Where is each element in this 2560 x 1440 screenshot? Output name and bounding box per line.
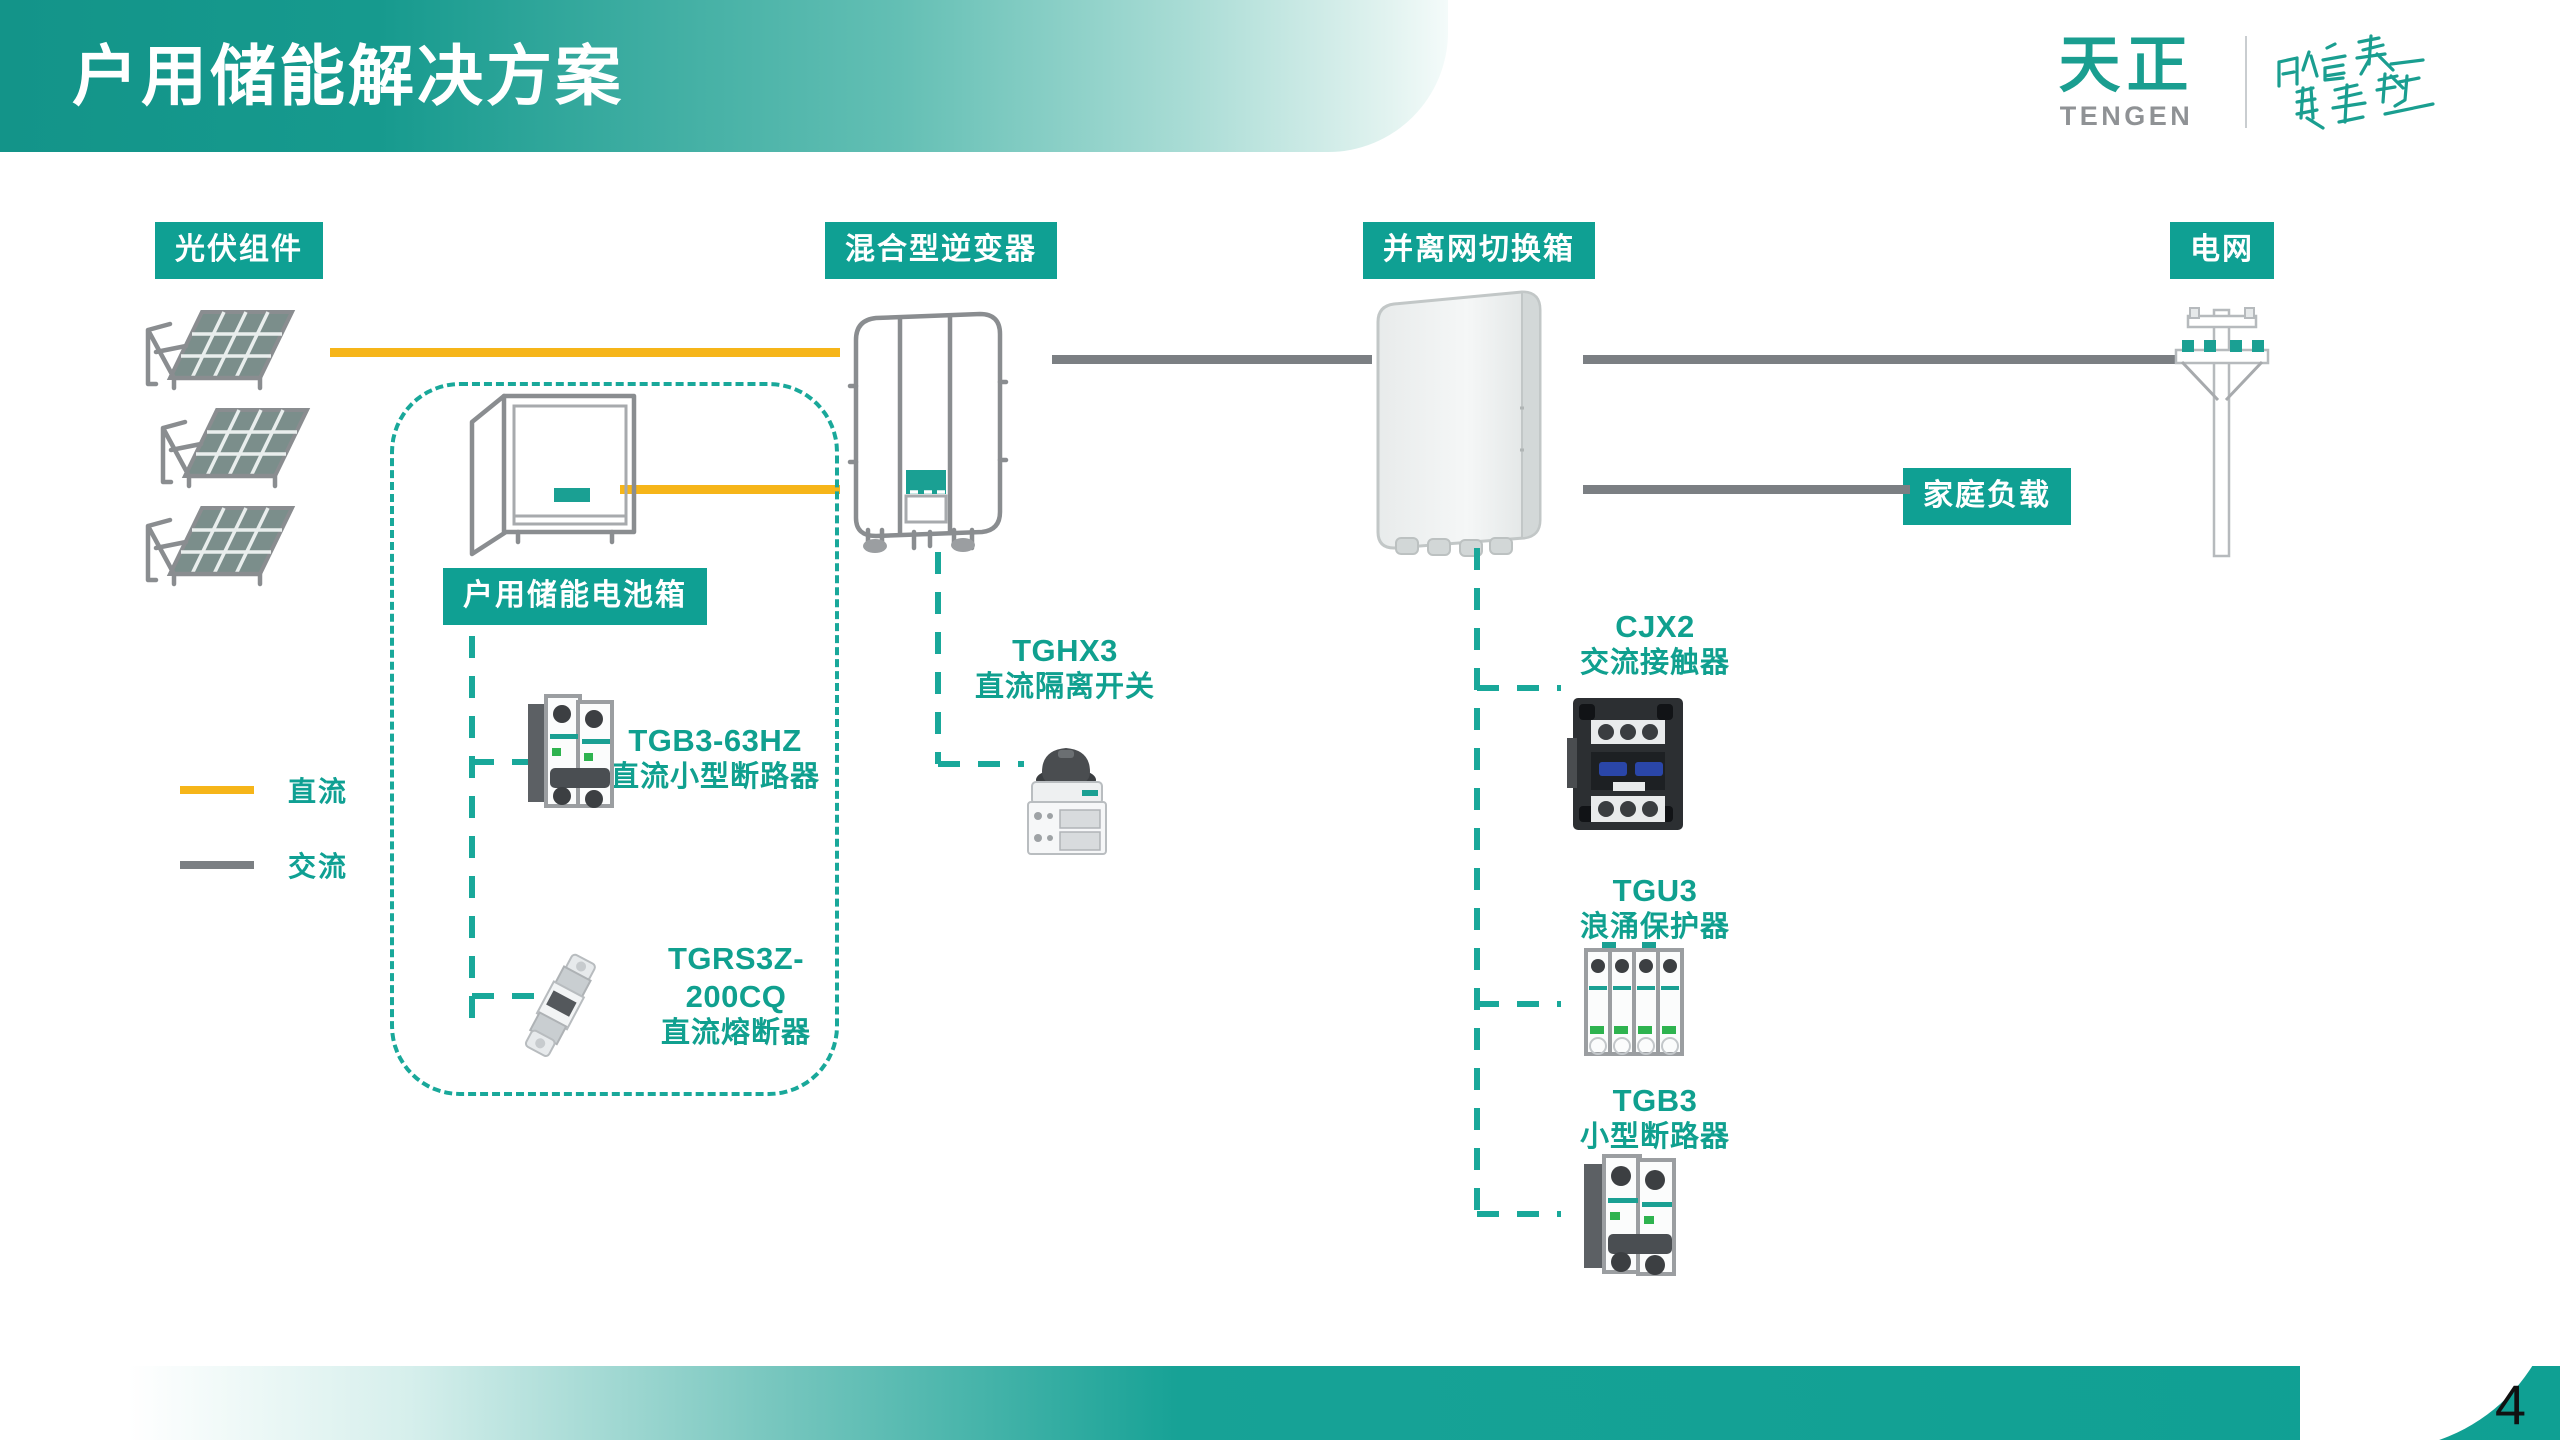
logo-english-name: TENGEN: [2060, 101, 2194, 131]
callout-model-tgb3-63hz: TGB3-63HZ: [600, 722, 830, 760]
callout-tgb3: TGB3 小型断路器: [1540, 1082, 1770, 1155]
callout-desc-tghx3: 直流隔离开关: [940, 670, 1190, 705]
hybrid-inverter-icon: [838, 302, 1018, 552]
callout-tgb3-63hz: TGB3-63HZ 直流小型断路器: [600, 722, 830, 795]
callout-model-tgrs3z-line2: 200CQ: [636, 978, 836, 1016]
callout-model-tgb3: TGB3: [1540, 1082, 1770, 1120]
page-number: 4: [2495, 1374, 2526, 1436]
grid-switch-box-icon: [1372, 290, 1562, 552]
callout-tgu3: TGU3 浪涌保护器: [1540, 872, 1770, 945]
callout-model-tghx3: TGHX3: [940, 632, 1190, 670]
logo-slogan-handwriting: [2273, 30, 2441, 134]
ac-bus-switch-to-load: [1583, 485, 1910, 494]
logo-chinese-name: 天正: [2058, 33, 2194, 99]
callout-tgrs3z-200cq: TGRS3Z- 200CQ 直流熔断器: [636, 940, 836, 1051]
logo-divider: [2245, 36, 2247, 128]
callout-desc-tgrs3z: 直流熔断器: [636, 1016, 836, 1051]
ac-bus-inverter-to-switch: [1052, 355, 1372, 364]
page-title: 户用储能解决方案: [72, 26, 624, 126]
battery-cabinet-icon: [462, 384, 642, 559]
callout-desc-cjx2: 交流接触器: [1540, 646, 1770, 681]
chip-switch-box: 并离网切换箱: [1363, 222, 1595, 279]
pv-panel-icon-1: [140, 300, 300, 392]
chip-home-load: 家庭负载: [1903, 468, 2071, 525]
brand-logo: 天正 TENGEN: [2034, 22, 2464, 142]
tghx3-product-image: [1008, 728, 1126, 858]
chip-inverter: 混合型逆变器: [825, 222, 1057, 279]
callout-tghx3: TGHX3 直流隔离开关: [940, 632, 1190, 705]
footer-band: [0, 1366, 2560, 1440]
callout-cjx2: CJX2 交流接触器: [1540, 608, 1770, 681]
callout-desc-tgb3-63hz: 直流小型断路器: [600, 760, 830, 795]
callout-model-tgrs3z-line1: TGRS3Z-: [636, 940, 836, 978]
tgb3-63hz-product-image: [520, 690, 624, 812]
footer-fill: [0, 1366, 2560, 1440]
legend-swatch-ac: [180, 861, 254, 869]
tgrs3z-200cq-product-image: [500, 945, 620, 1063]
pv-panel-icon-2: [155, 398, 315, 490]
tgu3-product-image: [1576, 940, 1692, 1060]
cjx2-product-image: [1565, 690, 1691, 835]
utility-pole-icon: [2152, 296, 2292, 556]
legend-label-dc: 直流: [288, 770, 348, 810]
ac-bus-switch-to-grid: [1583, 355, 2203, 364]
dc-bus-pv-to-inverter: [330, 348, 840, 357]
legend-item-ac: 交流: [180, 845, 348, 885]
tgb3-product-image: [1578, 1150, 1688, 1280]
legend-item-dc: 直流: [180, 770, 348, 810]
pv-panel-icon-3: [140, 496, 300, 588]
slide-root: 户用储能解决方案 天正 TENGEN: [0, 0, 2560, 1440]
legend-swatch-dc: [180, 786, 254, 794]
logo-mark: 天正 TENGEN: [2034, 33, 2219, 131]
legend-label-ac: 交流: [288, 845, 348, 885]
callout-model-cjx2: CJX2: [1540, 608, 1770, 646]
callout-model-tgu3: TGU3: [1540, 872, 1770, 910]
chip-pv-modules: 光伏组件: [155, 222, 323, 279]
chip-grid: 电网: [2170, 222, 2274, 279]
